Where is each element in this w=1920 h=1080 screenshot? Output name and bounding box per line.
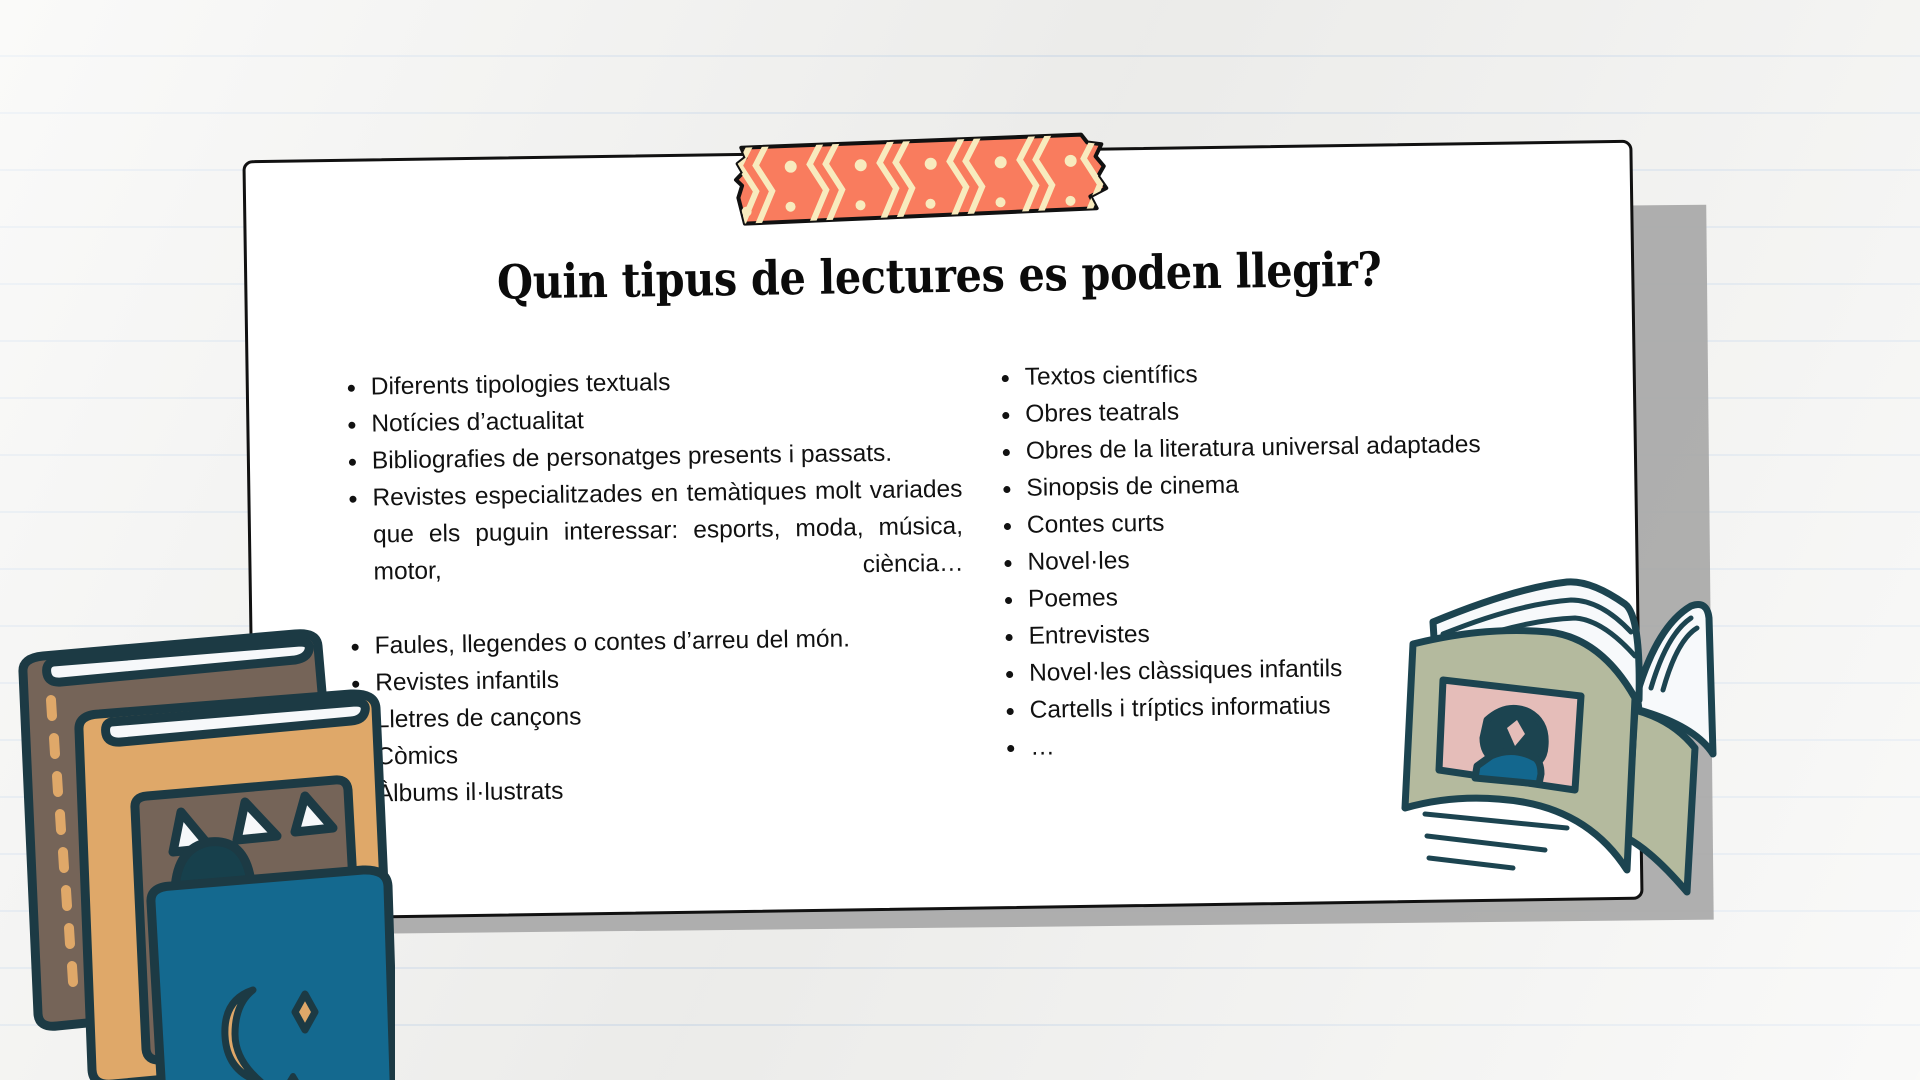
- left-bullet-list: Diferents tipologies textuals Notícies d…: [341, 360, 968, 813]
- left-bullet-column: Diferents tipologies textuals Notícies d…: [341, 360, 968, 813]
- open-book-icon: [1395, 570, 1725, 900]
- stacked-books-icon: [0, 590, 395, 1080]
- washi-tape-icon: [729, 132, 1109, 226]
- bullet-columns: Diferents tipologies textuals Notícies d…: [307, 351, 1581, 814]
- page-title: Quin tipus de lectures es poden llegir?: [381, 241, 1498, 313]
- list-item: Revistes especialitzades en temàtiques m…: [342, 471, 964, 628]
- list-item: Àlbums il·lustrats: [347, 767, 967, 813]
